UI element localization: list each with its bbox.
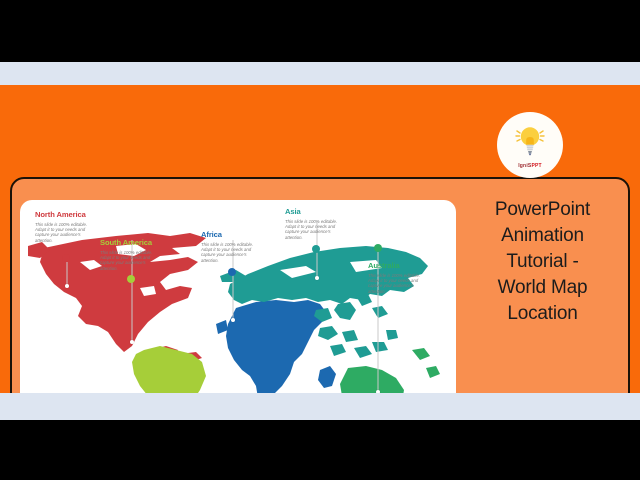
callout-body-asia: This slide is 100% editable. Adapt it to… — [285, 219, 347, 241]
video-title: PowerPoint Animation Tutorial - World Ma… — [455, 197, 630, 327]
callout-asia[interactable]: Asia This slide is 100% editable. Adapt … — [285, 207, 371, 240]
logo-wordmark: IgniSPPT — [518, 163, 542, 169]
letterbox-bottom-black — [0, 420, 640, 480]
callout-body-australia: This slide is 100% editable. Adapt it to… — [368, 273, 430, 295]
video-title-line-4: World Map — [455, 275, 630, 301]
video-title-line-1: PowerPoint — [455, 197, 630, 223]
logo-word-secondary: PPT — [531, 163, 541, 169]
callout-dot-asia[interactable] — [312, 245, 320, 253]
video-title-line-2: Animation — [455, 223, 630, 249]
callout-dot-south-america[interactable] — [127, 275, 135, 283]
callout-title-north-america: North America — [35, 210, 121, 220]
callout-dot-africa[interactable] — [228, 268, 236, 276]
map-pin-south-america[interactable] — [130, 340, 134, 344]
callout-title-africa: Africa — [201, 230, 287, 240]
callout-australia[interactable]: Australia This slide is 100% editable. A… — [368, 261, 454, 294]
callout-title-australia: Australia — [368, 261, 454, 271]
channel-logo-badge[interactable]: IgniSPPT — [497, 112, 563, 178]
callout-body-south-america: This slide is 100% editable. Adapt it to… — [100, 250, 162, 272]
callout-dot-north-america[interactable] — [62, 254, 70, 262]
video-title-line-3: Tutorial - — [455, 249, 630, 275]
callout-title-asia: Asia — [285, 207, 371, 217]
callout-title-south-america: South America — [100, 238, 186, 248]
letterbox-top-blue — [0, 62, 640, 85]
logo-word-primary: IgniS — [518, 163, 531, 169]
video-title-line-5: Location — [455, 301, 630, 327]
callout-africa[interactable]: Africa This slide is 100% editable. Adap… — [201, 230, 287, 263]
map-pin-north-america[interactable] — [65, 284, 69, 288]
map-pin-asia[interactable] — [315, 276, 319, 280]
map-pin-africa[interactable] — [231, 318, 235, 322]
callout-south-america[interactable]: South America This slide is 100% editabl… — [100, 238, 186, 271]
callout-body-africa: This slide is 100% editable. Adapt it to… — [201, 242, 263, 264]
lightbulb-icon — [513, 122, 547, 162]
callout-body-north-america: This slide is 100% editable. Adapt it to… — [35, 222, 97, 244]
letterbox-top-black — [0, 0, 640, 62]
callout-dot-australia[interactable] — [374, 244, 382, 252]
letterbox-bottom-blue — [0, 393, 640, 420]
screenshot-root: North America This slide is 100% editabl… — [0, 0, 640, 480]
